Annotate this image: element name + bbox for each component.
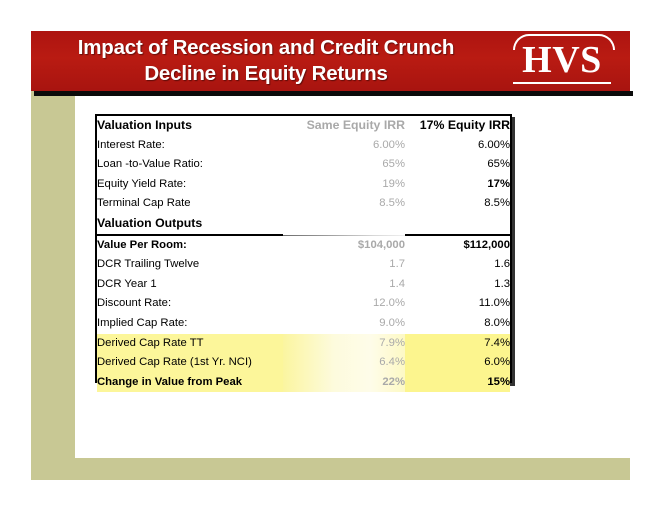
table-row: Implied Cap Rate: 9.0% 8.0% [97,314,510,334]
table-row: Terminal Cap Rate 8.5% 8.5% [97,194,510,214]
row-label: DCR Year 1 [97,275,283,295]
row-value-same-irr: 8.5% [283,194,405,214]
row-label: Discount Rate: [97,294,283,314]
logo-underline-icon [513,82,611,84]
row-label: Interest Rate: [97,136,283,156]
section-spacer-b [405,214,510,235]
table-row: Loan -to-Value Ratio: 65% 65% [97,155,510,175]
table-row-highlighted: Derived Cap Rate (1st Yr. NCI) 6.4% 6.0% [97,353,510,373]
row-label: Change in Value from Peak [97,373,283,393]
table-row-highlighted: Derived Cap Rate TT 7.9% 7.4% [97,334,510,354]
header-valuation-outputs: Valuation Outputs [97,214,283,235]
header-col-17pct-equity-irr: 17% Equity IRR [405,116,510,136]
table-row: DCR Trailing Twelve 1.7 1.6 [97,255,510,275]
section-header-valuation-outputs: Valuation Outputs [97,214,510,235]
row-label: DCR Trailing Twelve [97,255,283,275]
row-value-same-irr: 6.4% [283,353,405,373]
row-value-17-irr: 1.6 [405,255,510,275]
table-row: Equity Yield Rate: 19% 17% [97,175,510,195]
row-value-17-irr: 6.0% [405,353,510,373]
row-value-17-irr: 17% [405,175,510,195]
row-label: Implied Cap Rate: [97,314,283,334]
row-value-17-irr: 8.5% [405,194,510,214]
table-row: DCR Year 1 1.4 1.3 [97,275,510,295]
hvs-logo: HVS [506,34,618,88]
table-row: Interest Rate: 6.00% 6.00% [97,136,510,156]
row-label: Terminal Cap Rate [97,194,283,214]
frame-bottom-bar [31,458,630,480]
row-label: Derived Cap Rate TT [97,334,283,354]
valuation-table-box: Valuation Inputs Same Equity IRR 17% Equ… [95,114,512,383]
title-line-2: Decline in Equity Returns [144,61,387,87]
page-title: Impact of Recession and Credit Crunch De… [31,30,501,92]
row-value-17-irr: 7.4% [405,334,510,354]
row-label: Loan -to-Value Ratio: [97,155,283,175]
row-value-17-irr: 11.0% [405,294,510,314]
logo-wordmark: HVS [506,38,618,82]
row-value-same-irr: 1.4 [283,275,405,295]
table-header-row: Valuation Inputs Same Equity IRR 17% Equ… [97,116,510,136]
row-value-same-irr: 9.0% [283,314,405,334]
table-row: Discount Rate: 12.0% 11.0% [97,294,510,314]
row-value-same-irr: 22% [283,373,405,393]
row-value-17-irr: 15% [405,373,510,393]
header-col-same-equity-irr: Same Equity IRR [283,116,405,136]
row-value-17-irr: $112,000 [405,235,510,256]
row-value-same-irr: 65% [283,155,405,175]
row-value-same-irr: $104,000 [283,235,405,256]
valuation-table: Valuation Inputs Same Equity IRR 17% Equ… [97,116,510,392]
section-spacer-a [283,214,405,235]
row-value-same-irr: 12.0% [283,294,405,314]
row-value-same-irr: 6.00% [283,136,405,156]
table-row: Value Per Room: $104,000 $112,000 [97,235,510,256]
row-label: Equity Yield Rate: [97,175,283,195]
row-label: Value Per Room: [97,235,283,256]
row-value-same-irr: 19% [283,175,405,195]
row-value-17-irr: 1.3 [405,275,510,295]
title-line-1: Impact of Recession and Credit Crunch [78,35,454,61]
row-value-same-irr: 1.7 [283,255,405,275]
row-value-17-irr: 6.00% [405,136,510,156]
row-value-same-irr: 7.9% [283,334,405,354]
table-row-highlighted: Change in Value from Peak 22% 15% [97,373,510,393]
row-value-17-irr: 8.0% [405,314,510,334]
row-label: Derived Cap Rate (1st Yr. NCI) [97,353,283,373]
row-value-17-irr: 65% [405,155,510,175]
slide-canvas: Impact of Recession and Credit Crunch De… [0,0,660,510]
header-valuation-inputs: Valuation Inputs [97,116,283,136]
frame-left-bar [31,91,75,480]
